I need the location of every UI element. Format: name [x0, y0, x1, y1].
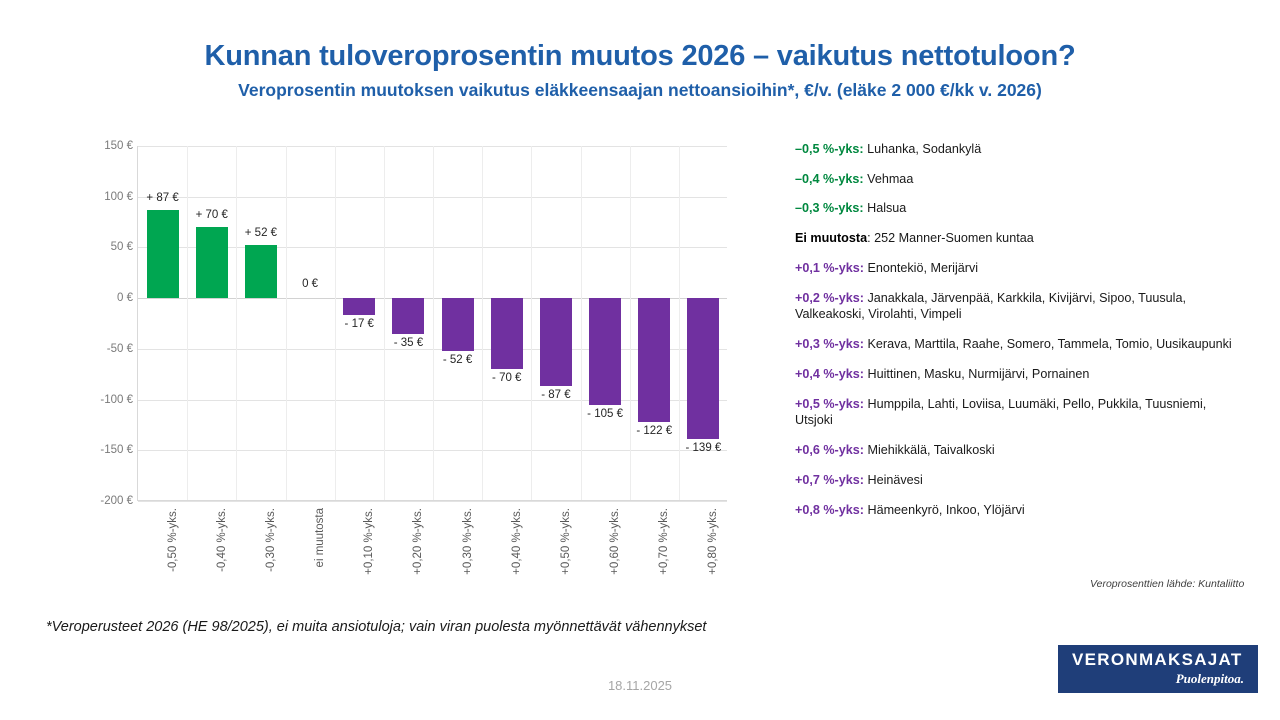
x-tick-label: +0,40 %-yks.: [511, 508, 523, 575]
x-tick-label: -0,50 %-yks.: [167, 508, 179, 572]
x-tick-label: +0,60 %-yks.: [609, 508, 621, 575]
legend-row: +0,1 %-yks: Enontekiö, Merijärvi: [795, 260, 1235, 277]
page-title: Kunnan tuloveroprosentin muutos 2026 – v…: [0, 40, 1280, 73]
footnote: *Veroperusteet 2026 (HE 98/2025), ei mui…: [46, 619, 706, 635]
legend-row: +0,3 %-yks: Kerava, Marttila, Raahe, Som…: [795, 336, 1235, 353]
legend-municipalities: Halsua: [864, 201, 907, 215]
x-tick-label: +0,50 %-yks.: [560, 508, 572, 575]
bar: [392, 298, 424, 334]
logo-tagline: Puolenpitoa.: [1072, 672, 1244, 685]
bar-value-label: - 35 €: [394, 337, 423, 349]
y-tick-label: -200 €: [100, 495, 133, 507]
x-tick-label: -0,30 %-yks.: [265, 508, 277, 572]
source-note: Veroprosenttien lähde: Kuntaliitto: [1090, 578, 1270, 592]
bar-value-label: - 52 €: [443, 354, 472, 366]
y-tick-label: -50 €: [107, 343, 133, 355]
legend-key: +0,6 %-yks:: [795, 443, 864, 457]
gridline-vertical: [335, 146, 336, 500]
legend-row: +0,6 %-yks: Miehikkälä, Taivalkoski: [795, 442, 1235, 459]
y-tick-label: 0 €: [117, 292, 133, 304]
legend-row: +0,7 %-yks: Heinävesi: [795, 472, 1235, 489]
legend-row: –0,5 %-yks: Luhanka, Sodankylä: [795, 141, 1235, 158]
legend-row: Ei muutosta: 252 Manner-Suomen kuntaa: [795, 230, 1235, 247]
bar-value-label: - 70 €: [492, 372, 521, 384]
y-tick-label: 150 €: [104, 140, 133, 152]
x-tick-label: +0,20 %-yks.: [412, 508, 424, 575]
bar-value-label: - 17 €: [345, 318, 374, 330]
legend-key: –0,3 %-yks:: [795, 201, 864, 215]
gridline-vertical: [187, 146, 188, 500]
bar-value-label: - 139 €: [686, 442, 722, 454]
y-tick-label: 50 €: [111, 241, 133, 253]
bar-chart: 150 €100 €50 €0 €-50 €-100 €-150 €-200 €…: [80, 140, 760, 570]
gridline-vertical: [384, 146, 385, 500]
bar: [196, 227, 228, 298]
legend-row: –0,4 %-yks: Vehmaa: [795, 171, 1235, 188]
bar-value-label: 0 €: [302, 278, 318, 290]
legend-row: –0,3 %-yks: Halsua: [795, 200, 1235, 217]
y-tick-label: -150 €: [100, 444, 133, 456]
bar: [638, 298, 670, 422]
gridline-vertical: [286, 146, 287, 500]
legend-municipalities: : 252 Manner-Suomen kuntaa: [867, 231, 1034, 245]
bar: [540, 298, 572, 386]
bar: [687, 298, 719, 439]
legend-key: –0,4 %-yks:: [795, 172, 864, 186]
gridline-vertical: [531, 146, 532, 500]
legend-key: +0,7 %-yks:: [795, 473, 864, 487]
bar-value-label: + 87 €: [146, 192, 178, 204]
y-tick-label: -100 €: [100, 394, 133, 406]
legend-key: –0,5 %-yks:: [795, 142, 864, 156]
veronmaksajat-logo: VERONMAKSAJAT Puolenpitoa.: [1058, 645, 1258, 693]
legend-row: +0,2 %-yks: Janakkala, Järvenpää, Karkki…: [795, 290, 1235, 323]
legend-row: +0,8 %-yks: Hämeenkyrö, Inkoo, Ylöjärvi: [795, 502, 1235, 519]
legend-key: Ei muutosta: [795, 231, 867, 245]
bar: [491, 298, 523, 369]
x-tick-label: +0,70 %-yks.: [658, 508, 670, 575]
gridline-vertical: [630, 146, 631, 500]
legend-municipalities: Hämeenkyrö, Inkoo, Ylöjärvi: [864, 503, 1025, 517]
bar: [589, 298, 621, 405]
legend-key: +0,4 %-yks:: [795, 367, 864, 381]
y-axis-labels: 150 €100 €50 €0 €-50 €-100 €-150 €-200 €: [80, 140, 133, 501]
legend-municipalities: Enontekiö, Merijärvi: [864, 261, 978, 275]
gridline-vertical: [236, 146, 237, 500]
bar-value-label: + 70 €: [196, 209, 228, 221]
bar: [343, 298, 375, 315]
legend-key: +0,1 %-yks:: [795, 261, 864, 275]
gridline-vertical: [433, 146, 434, 500]
gridline-horizontal: [138, 501, 727, 502]
title-block: Kunnan tuloveroprosentin muutos 2026 – v…: [0, 40, 1280, 100]
x-tick-label: +0,80 %-yks.: [707, 508, 719, 575]
x-tick-label: -0,40 %-yks.: [216, 508, 228, 572]
legend-key: +0,5 %-yks:: [795, 397, 864, 411]
plot-grid: + 87 €+ 70 €+ 52 €0 €- 17 €- 35 €- 52 €-…: [137, 146, 727, 501]
page-subtitle: Veroprosentin muutoksen vaikutus eläkkee…: [0, 80, 1280, 100]
x-tick-label: ei muutosta: [314, 508, 326, 567]
bar: [147, 210, 179, 298]
x-tick-label: +0,10 %-yks.: [363, 508, 375, 575]
municipality-legend: –0,5 %-yks: Luhanka, Sodankylä–0,4 %-yks…: [795, 141, 1235, 518]
legend-municipalities: Kerava, Marttila, Raahe, Somero, Tammela…: [864, 337, 1232, 351]
y-tick-label: 100 €: [104, 191, 133, 203]
bar: [442, 298, 474, 351]
bar-value-label: - 122 €: [636, 425, 672, 437]
gridline-vertical: [482, 146, 483, 500]
x-axis-labels: -0,50 %-yks.-0,40 %-yks.-0,30 %-yks.ei m…: [137, 508, 727, 623]
bar-value-label: - 87 €: [541, 389, 570, 401]
plot-area: + 87 €+ 70 €+ 52 €0 €- 17 €- 35 €- 52 €-…: [137, 146, 727, 501]
bar-value-label: - 105 €: [587, 408, 623, 420]
x-tick-label: +0,30 %-yks.: [462, 508, 474, 575]
bar: [245, 245, 277, 298]
legend-key: +0,8 %-yks:: [795, 503, 864, 517]
logo-wordmark: VERONMAKSAJAT: [1072, 651, 1244, 668]
gridline-vertical: [679, 146, 680, 500]
bar-value-label: + 52 €: [245, 227, 277, 239]
legend-municipalities: Miehikkälä, Taivalkoski: [864, 443, 995, 457]
legend-municipalities: Heinävesi: [864, 473, 923, 487]
gridline-vertical: [581, 146, 582, 500]
legend-municipalities: Huittinen, Masku, Nurmijärvi, Pornainen: [864, 367, 1089, 381]
legend-municipalities: Luhanka, Sodankylä: [864, 142, 982, 156]
legend-municipalities: Vehmaa: [864, 172, 914, 186]
legend-key: +0,2 %-yks:: [795, 291, 864, 305]
legend-row: +0,5 %-yks: Humppila, Lahti, Loviisa, Lu…: [795, 396, 1235, 429]
legend-key: +0,3 %-yks:: [795, 337, 864, 351]
legend-row: +0,4 %-yks: Huittinen, Masku, Nurmijärvi…: [795, 366, 1235, 383]
